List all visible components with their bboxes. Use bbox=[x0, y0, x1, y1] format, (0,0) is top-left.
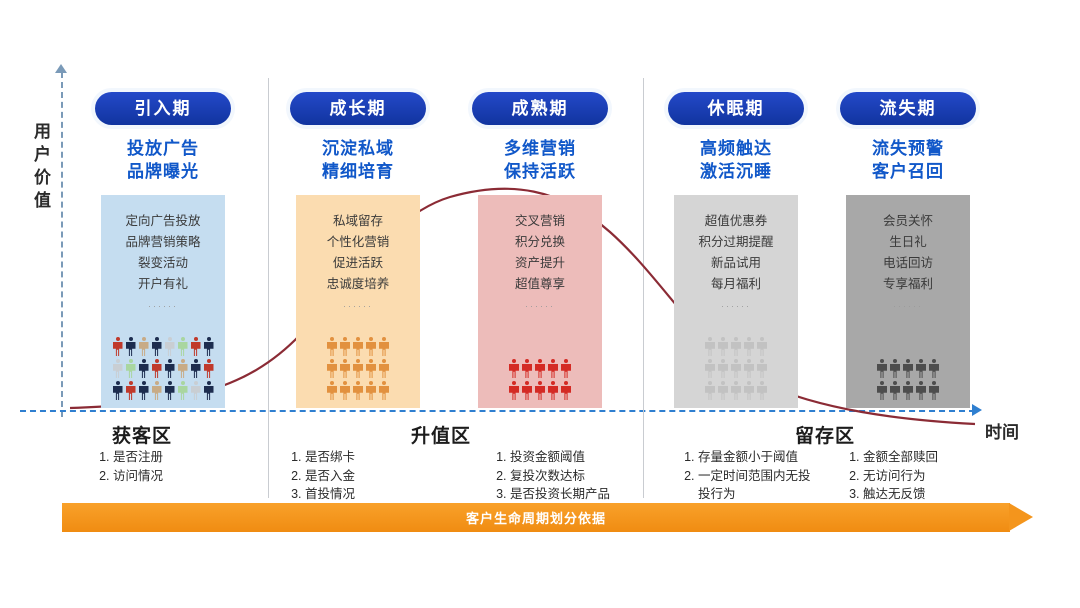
stage-panel-4: 超值优惠券积分过期提醒新品试用每月福利 ······ bbox=[674, 195, 798, 408]
person-icon bbox=[152, 381, 162, 400]
person-icon bbox=[139, 337, 149, 356]
stage-item: 个性化营销 bbox=[327, 232, 390, 253]
criteria-item: 是否注册 bbox=[113, 448, 163, 467]
criteria-list-3: 投资金额阈值复投次数达标是否投资长期产品 bbox=[490, 448, 610, 504]
person-icon bbox=[204, 337, 214, 356]
stage-pill-3[interactable]: 成熟期 bbox=[472, 92, 608, 125]
people-grid-1 bbox=[101, 337, 225, 400]
zone-title-acquisition: 获客区 bbox=[112, 421, 172, 448]
criteria-list-4: 存量金额小于阈值一定时间范围内无投投行为 bbox=[678, 448, 811, 504]
column-divider-2 bbox=[643, 78, 644, 498]
person-icon bbox=[705, 337, 715, 356]
person-icon bbox=[204, 359, 214, 378]
criteria-list-1: 是否注册访问情况 bbox=[93, 448, 163, 485]
person-icon bbox=[535, 381, 545, 400]
person-icon bbox=[165, 337, 175, 356]
zone-title-value-growth: 升值区 bbox=[411, 421, 471, 448]
stage-items-3: 交叉营销积分兑换资产提升超值尊享 bbox=[515, 211, 565, 295]
person-icon bbox=[535, 359, 545, 378]
person-icon bbox=[178, 359, 188, 378]
people-row bbox=[509, 359, 571, 378]
x-axis-label: 时间 bbox=[985, 418, 1019, 443]
stage-panel-1: 定向广告投放品牌营销策略裂变活动开户有礼 ······ bbox=[101, 195, 225, 408]
person-icon bbox=[744, 337, 754, 356]
people-row bbox=[327, 381, 389, 400]
stage-item: 促进活跃 bbox=[327, 253, 390, 274]
stage-item: 超值优惠券 bbox=[698, 211, 773, 232]
stage-item: 新品试用 bbox=[698, 253, 773, 274]
stage-subtitle-line1: 投放广告 bbox=[88, 137, 238, 160]
person-icon bbox=[705, 381, 715, 400]
person-icon bbox=[165, 359, 175, 378]
person-icon bbox=[178, 337, 188, 356]
stage-subtitle-line1: 多维营销 bbox=[465, 137, 615, 160]
person-icon bbox=[178, 381, 188, 400]
x-axis-line bbox=[20, 410, 975, 412]
people-row bbox=[327, 359, 389, 378]
person-icon bbox=[561, 381, 571, 400]
person-icon bbox=[731, 337, 741, 356]
people-grid-2 bbox=[296, 337, 420, 400]
stage-subtitle-line1: 沉淀私域 bbox=[283, 137, 433, 160]
stage-column-5[interactable]: 流失期 流失预警 客户召回 会员关怀生日礼电话回访专享福利 ······ bbox=[833, 92, 983, 408]
person-icon bbox=[744, 381, 754, 400]
person-icon bbox=[561, 359, 571, 378]
person-icon bbox=[877, 381, 887, 400]
people-row bbox=[113, 359, 214, 378]
stage-subtitle-line2: 品牌曝光 bbox=[88, 160, 238, 183]
person-icon bbox=[929, 359, 939, 378]
person-icon bbox=[353, 381, 363, 400]
stage-column-4[interactable]: 休眠期 高频触达 激活沉睡 超值优惠券积分过期提醒新品试用每月福利 ······ bbox=[661, 92, 811, 408]
stage-item: 忠诚度培养 bbox=[327, 274, 390, 295]
stage-column-3[interactable]: 成熟期 多维营销 保持活跃 交叉营销积分兑换资产提升超值尊享 ······ bbox=[465, 92, 615, 408]
stage-dots-5: ······ bbox=[893, 301, 923, 311]
person-icon bbox=[757, 337, 767, 356]
person-icon bbox=[152, 359, 162, 378]
person-icon bbox=[890, 381, 900, 400]
stage-dots-4: ······ bbox=[721, 301, 751, 311]
criteria-item: 一定时间范围内无投 bbox=[698, 467, 811, 486]
stage-subtitle-2: 沉淀私域 精细培育 bbox=[283, 137, 433, 183]
criteria-item: 访问情况 bbox=[113, 467, 163, 486]
person-icon bbox=[379, 337, 389, 356]
stage-item: 会员关怀 bbox=[883, 211, 933, 232]
people-row bbox=[877, 359, 939, 378]
stage-dots-3: ······ bbox=[525, 301, 555, 311]
person-icon bbox=[327, 337, 337, 356]
stage-items-2: 私域留存个性化营销促进活跃忠诚度培养 bbox=[327, 211, 390, 295]
criteria-item: 无访问行为 bbox=[863, 467, 938, 486]
person-icon bbox=[139, 359, 149, 378]
person-icon bbox=[165, 381, 175, 400]
stage-dots-2: ······ bbox=[343, 301, 373, 311]
stage-subtitle-line2: 保持活跃 bbox=[465, 160, 615, 183]
person-icon bbox=[366, 381, 376, 400]
stage-column-2[interactable]: 成长期 沉淀私域 精细培育 私域留存个性化营销促进活跃忠诚度培养 ······ bbox=[283, 92, 433, 408]
person-icon bbox=[340, 337, 350, 356]
person-icon bbox=[139, 381, 149, 400]
stage-panel-2: 私域留存个性化营销促进活跃忠诚度培养 ······ bbox=[296, 195, 420, 408]
stage-item: 积分兑换 bbox=[515, 232, 565, 253]
person-icon bbox=[366, 337, 376, 356]
stage-subtitle-line1: 流失预警 bbox=[833, 137, 983, 160]
stage-item: 专享福利 bbox=[883, 274, 933, 295]
criteria-item: 投行为 bbox=[698, 485, 811, 504]
stage-pill-5[interactable]: 流失期 bbox=[840, 92, 976, 125]
stage-subtitle-line2: 激活沉睡 bbox=[661, 160, 811, 183]
lifecycle-criteria-banner: 客户生命周期划分依据 bbox=[62, 503, 1010, 532]
person-icon bbox=[903, 359, 913, 378]
stage-pill-4[interactable]: 休眠期 bbox=[668, 92, 804, 125]
person-icon bbox=[929, 381, 939, 400]
person-icon bbox=[731, 381, 741, 400]
person-icon bbox=[327, 381, 337, 400]
people-row bbox=[509, 381, 571, 400]
person-icon bbox=[916, 359, 926, 378]
person-icon bbox=[718, 337, 728, 356]
person-icon bbox=[379, 359, 389, 378]
stage-item: 品牌营销策略 bbox=[125, 232, 200, 253]
stage-subtitle-line1: 高频触达 bbox=[661, 137, 811, 160]
stage-subtitle-1: 投放广告 品牌曝光 bbox=[88, 137, 238, 183]
person-icon bbox=[113, 359, 123, 378]
criteria-item: 存量金额小于阈值 bbox=[698, 448, 811, 467]
stage-item: 积分过期提醒 bbox=[698, 232, 773, 253]
person-icon bbox=[327, 359, 337, 378]
people-grid-5 bbox=[846, 359, 970, 400]
person-icon bbox=[204, 381, 214, 400]
stage-subtitle-4: 高频触达 激活沉睡 bbox=[661, 137, 811, 183]
stage-items-5: 会员关怀生日礼电话回访专享福利 bbox=[883, 211, 933, 295]
person-icon bbox=[916, 381, 926, 400]
person-icon bbox=[705, 359, 715, 378]
banner-arrow-icon bbox=[1009, 503, 1033, 531]
stage-item: 每月福利 bbox=[698, 274, 773, 295]
criteria-item: 投资金额阈值 bbox=[510, 448, 610, 467]
people-row bbox=[113, 381, 214, 400]
stage-items-4: 超值优惠券积分过期提醒新品试用每月福利 bbox=[698, 211, 773, 295]
person-icon bbox=[340, 381, 350, 400]
person-icon bbox=[126, 337, 136, 356]
person-icon bbox=[353, 359, 363, 378]
person-icon bbox=[718, 359, 728, 378]
people-row bbox=[327, 337, 389, 356]
stage-item: 交叉营销 bbox=[515, 211, 565, 232]
stage-panel-5: 会员关怀生日礼电话回访专享福利 ······ bbox=[846, 195, 970, 408]
person-icon bbox=[340, 359, 350, 378]
person-icon bbox=[113, 381, 123, 400]
person-icon bbox=[548, 381, 558, 400]
person-icon bbox=[522, 359, 532, 378]
person-icon bbox=[731, 359, 741, 378]
people-row bbox=[705, 381, 767, 400]
stage-pill-1[interactable]: 引入期 bbox=[95, 92, 231, 125]
criteria-item: 金额全部赎回 bbox=[863, 448, 938, 467]
people-row bbox=[113, 337, 214, 356]
stage-column-1[interactable]: 引入期 投放广告 品牌曝光 定向广告投放品牌营销策略裂变活动开户有礼 ·····… bbox=[88, 92, 238, 408]
stage-subtitle-line2: 客户召回 bbox=[833, 160, 983, 183]
person-icon bbox=[152, 337, 162, 356]
person-icon bbox=[113, 337, 123, 356]
criteria-list-2: 是否绑卡是否入金首投情况 bbox=[285, 448, 355, 504]
criteria-item: 复投次数达标 bbox=[510, 467, 610, 486]
person-icon bbox=[509, 381, 519, 400]
people-grid-4 bbox=[674, 337, 798, 400]
person-icon bbox=[890, 359, 900, 378]
stage-item: 开户有礼 bbox=[125, 274, 200, 295]
person-icon bbox=[522, 381, 532, 400]
person-icon bbox=[191, 359, 201, 378]
person-icon bbox=[191, 381, 201, 400]
stage-subtitle-line2: 精细培育 bbox=[283, 160, 433, 183]
stage-panel-3: 交叉营销积分兑换资产提升超值尊享 ······ bbox=[478, 195, 602, 408]
people-row bbox=[705, 337, 767, 356]
column-divider-1 bbox=[268, 78, 269, 498]
person-icon bbox=[126, 359, 136, 378]
person-icon bbox=[877, 359, 887, 378]
stage-pill-2[interactable]: 成长期 bbox=[290, 92, 426, 125]
stage-subtitle-3: 多维营销 保持活跃 bbox=[465, 137, 615, 183]
stage-items-1: 定向广告投放品牌营销策略裂变活动开户有礼 bbox=[125, 211, 200, 295]
person-icon bbox=[757, 359, 767, 378]
stage-item: 裂变活动 bbox=[125, 253, 200, 274]
zone-title-retention: 留存区 bbox=[795, 421, 855, 448]
person-icon bbox=[366, 359, 376, 378]
person-icon bbox=[757, 381, 767, 400]
person-icon bbox=[191, 337, 201, 356]
person-icon bbox=[548, 359, 558, 378]
person-icon bbox=[903, 381, 913, 400]
stage-item: 定向广告投放 bbox=[125, 211, 200, 232]
criteria-item: 是否投资长期产品 bbox=[510, 485, 610, 504]
person-icon bbox=[379, 381, 389, 400]
people-row bbox=[877, 381, 939, 400]
criteria-item: 首投情况 bbox=[305, 485, 355, 504]
stage-item: 资产提升 bbox=[515, 253, 565, 274]
person-icon bbox=[353, 337, 363, 356]
y-axis-line bbox=[61, 72, 63, 417]
criteria-item: 是否入金 bbox=[305, 467, 355, 486]
stage-item: 电话回访 bbox=[883, 253, 933, 274]
lifecycle-diagram: 用户价值 时间 引入期 投放广告 品牌曝光 定向广告投放品牌营销策略裂变活动开户… bbox=[0, 0, 1080, 608]
y-axis-label: 用户价值 bbox=[30, 120, 56, 212]
person-icon bbox=[509, 359, 519, 378]
criteria-list-5: 金额全部赎回无访问行为触达无反馈 bbox=[843, 448, 938, 504]
stage-subtitle-5: 流失预警 客户召回 bbox=[833, 137, 983, 183]
people-row bbox=[705, 359, 767, 378]
stage-item: 超值尊享 bbox=[515, 274, 565, 295]
stage-dots-1: ······ bbox=[148, 301, 178, 311]
person-icon bbox=[126, 381, 136, 400]
criteria-item: 触达无反馈 bbox=[863, 485, 938, 504]
person-icon bbox=[718, 381, 728, 400]
stage-item: 生日礼 bbox=[883, 232, 933, 253]
criteria-item: 是否绑卡 bbox=[305, 448, 355, 467]
stage-item: 私域留存 bbox=[327, 211, 390, 232]
person-icon bbox=[744, 359, 754, 378]
people-grid-3 bbox=[478, 359, 602, 400]
banner-label: 客户生命周期划分依据 bbox=[466, 508, 606, 527]
